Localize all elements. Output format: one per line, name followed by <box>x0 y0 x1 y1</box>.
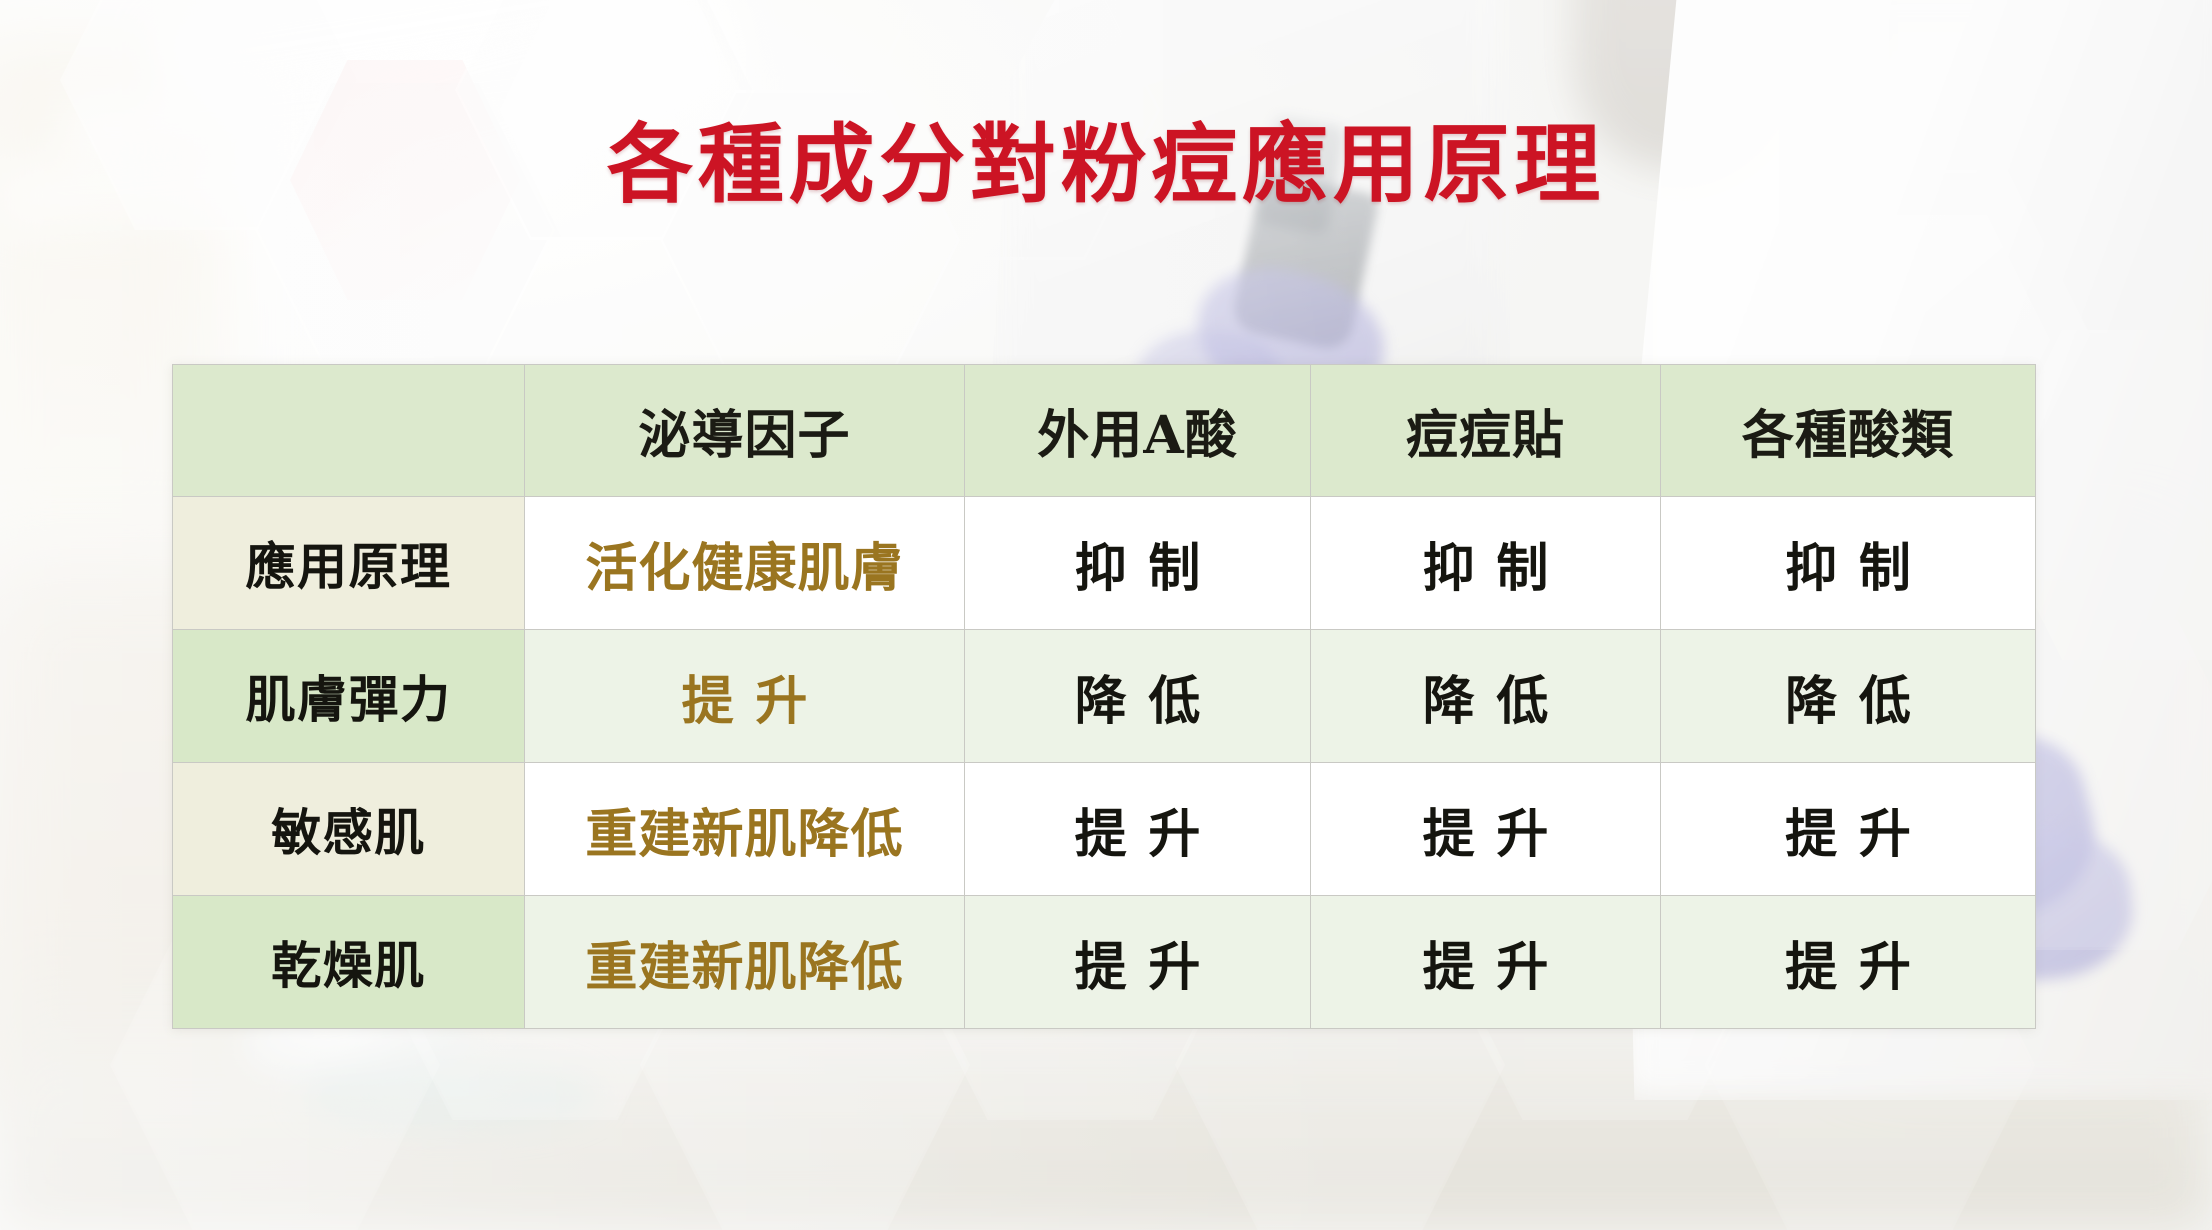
cell-r1-c2: 降低 <box>965 630 1311 763</box>
row-label: 敏感肌 <box>173 763 525 896</box>
cell-r0-c4: 抑制 <box>1661 497 2036 630</box>
slide-title: 各種成分對粉痘應用原理 <box>0 118 2212 213</box>
table-row: 應用原理 活化健康肌膚 抑制 抑制 抑制 <box>173 497 2036 630</box>
cell-r0-c3: 抑制 <box>1311 497 1661 630</box>
table-row: 肌膚彈力 提升 降低 降低 降低 <box>173 630 2036 763</box>
table-header-row: 泌導因子 外用A酸 痘痘貼 各種酸類 <box>173 365 2036 497</box>
comparison-table-container: 泌導因子 外用A酸 痘痘貼 各種酸類 應用原理 活化健康肌膚 抑制 抑制 抑制 … <box>172 364 2035 1029</box>
row-label: 應用原理 <box>173 497 525 630</box>
cell-r3-c2: 提升 <box>965 896 1311 1029</box>
row-label: 肌膚彈力 <box>173 630 525 763</box>
table-row: 敏感肌 重建新肌降低 提升 提升 提升 <box>173 763 2036 896</box>
cell-r1-c1: 提升 <box>525 630 965 763</box>
cell-r3-c3: 提升 <box>1311 896 1661 1029</box>
table-header: 泌導因子 外用A酸 痘痘貼 各種酸類 <box>173 365 2036 497</box>
cell-r3-c4: 提升 <box>1661 896 2036 1029</box>
cell-r1-c4: 降低 <box>1661 630 2036 763</box>
column-header-4: 各種酸類 <box>1661 365 2036 497</box>
cell-r0-c2: 抑制 <box>965 497 1311 630</box>
table-corner-cell <box>173 365 525 497</box>
cell-r2-c4: 提升 <box>1661 763 2036 896</box>
cell-r2-c1: 重建新肌降低 <box>525 763 965 896</box>
row-label: 乾燥肌 <box>173 896 525 1029</box>
table-row: 乾燥肌 重建新肌降低 提升 提升 提升 <box>173 896 2036 1029</box>
table-body: 應用原理 活化健康肌膚 抑制 抑制 抑制 肌膚彈力 提升 降低 降低 降低 敏感… <box>173 497 2036 1029</box>
comparison-table: 泌導因子 外用A酸 痘痘貼 各種酸類 應用原理 活化健康肌膚 抑制 抑制 抑制 … <box>172 364 2036 1029</box>
column-header-3: 痘痘貼 <box>1311 365 1661 497</box>
cell-r3-c1: 重建新肌降低 <box>525 896 965 1029</box>
cell-r0-c1: 活化健康肌膚 <box>525 497 965 630</box>
cell-r2-c2: 提升 <box>965 763 1311 896</box>
cell-r1-c3: 降低 <box>1311 630 1661 763</box>
column-header-1: 泌導因子 <box>525 365 965 497</box>
column-header-2: 外用A酸 <box>965 365 1311 497</box>
cell-r2-c3: 提升 <box>1311 763 1661 896</box>
